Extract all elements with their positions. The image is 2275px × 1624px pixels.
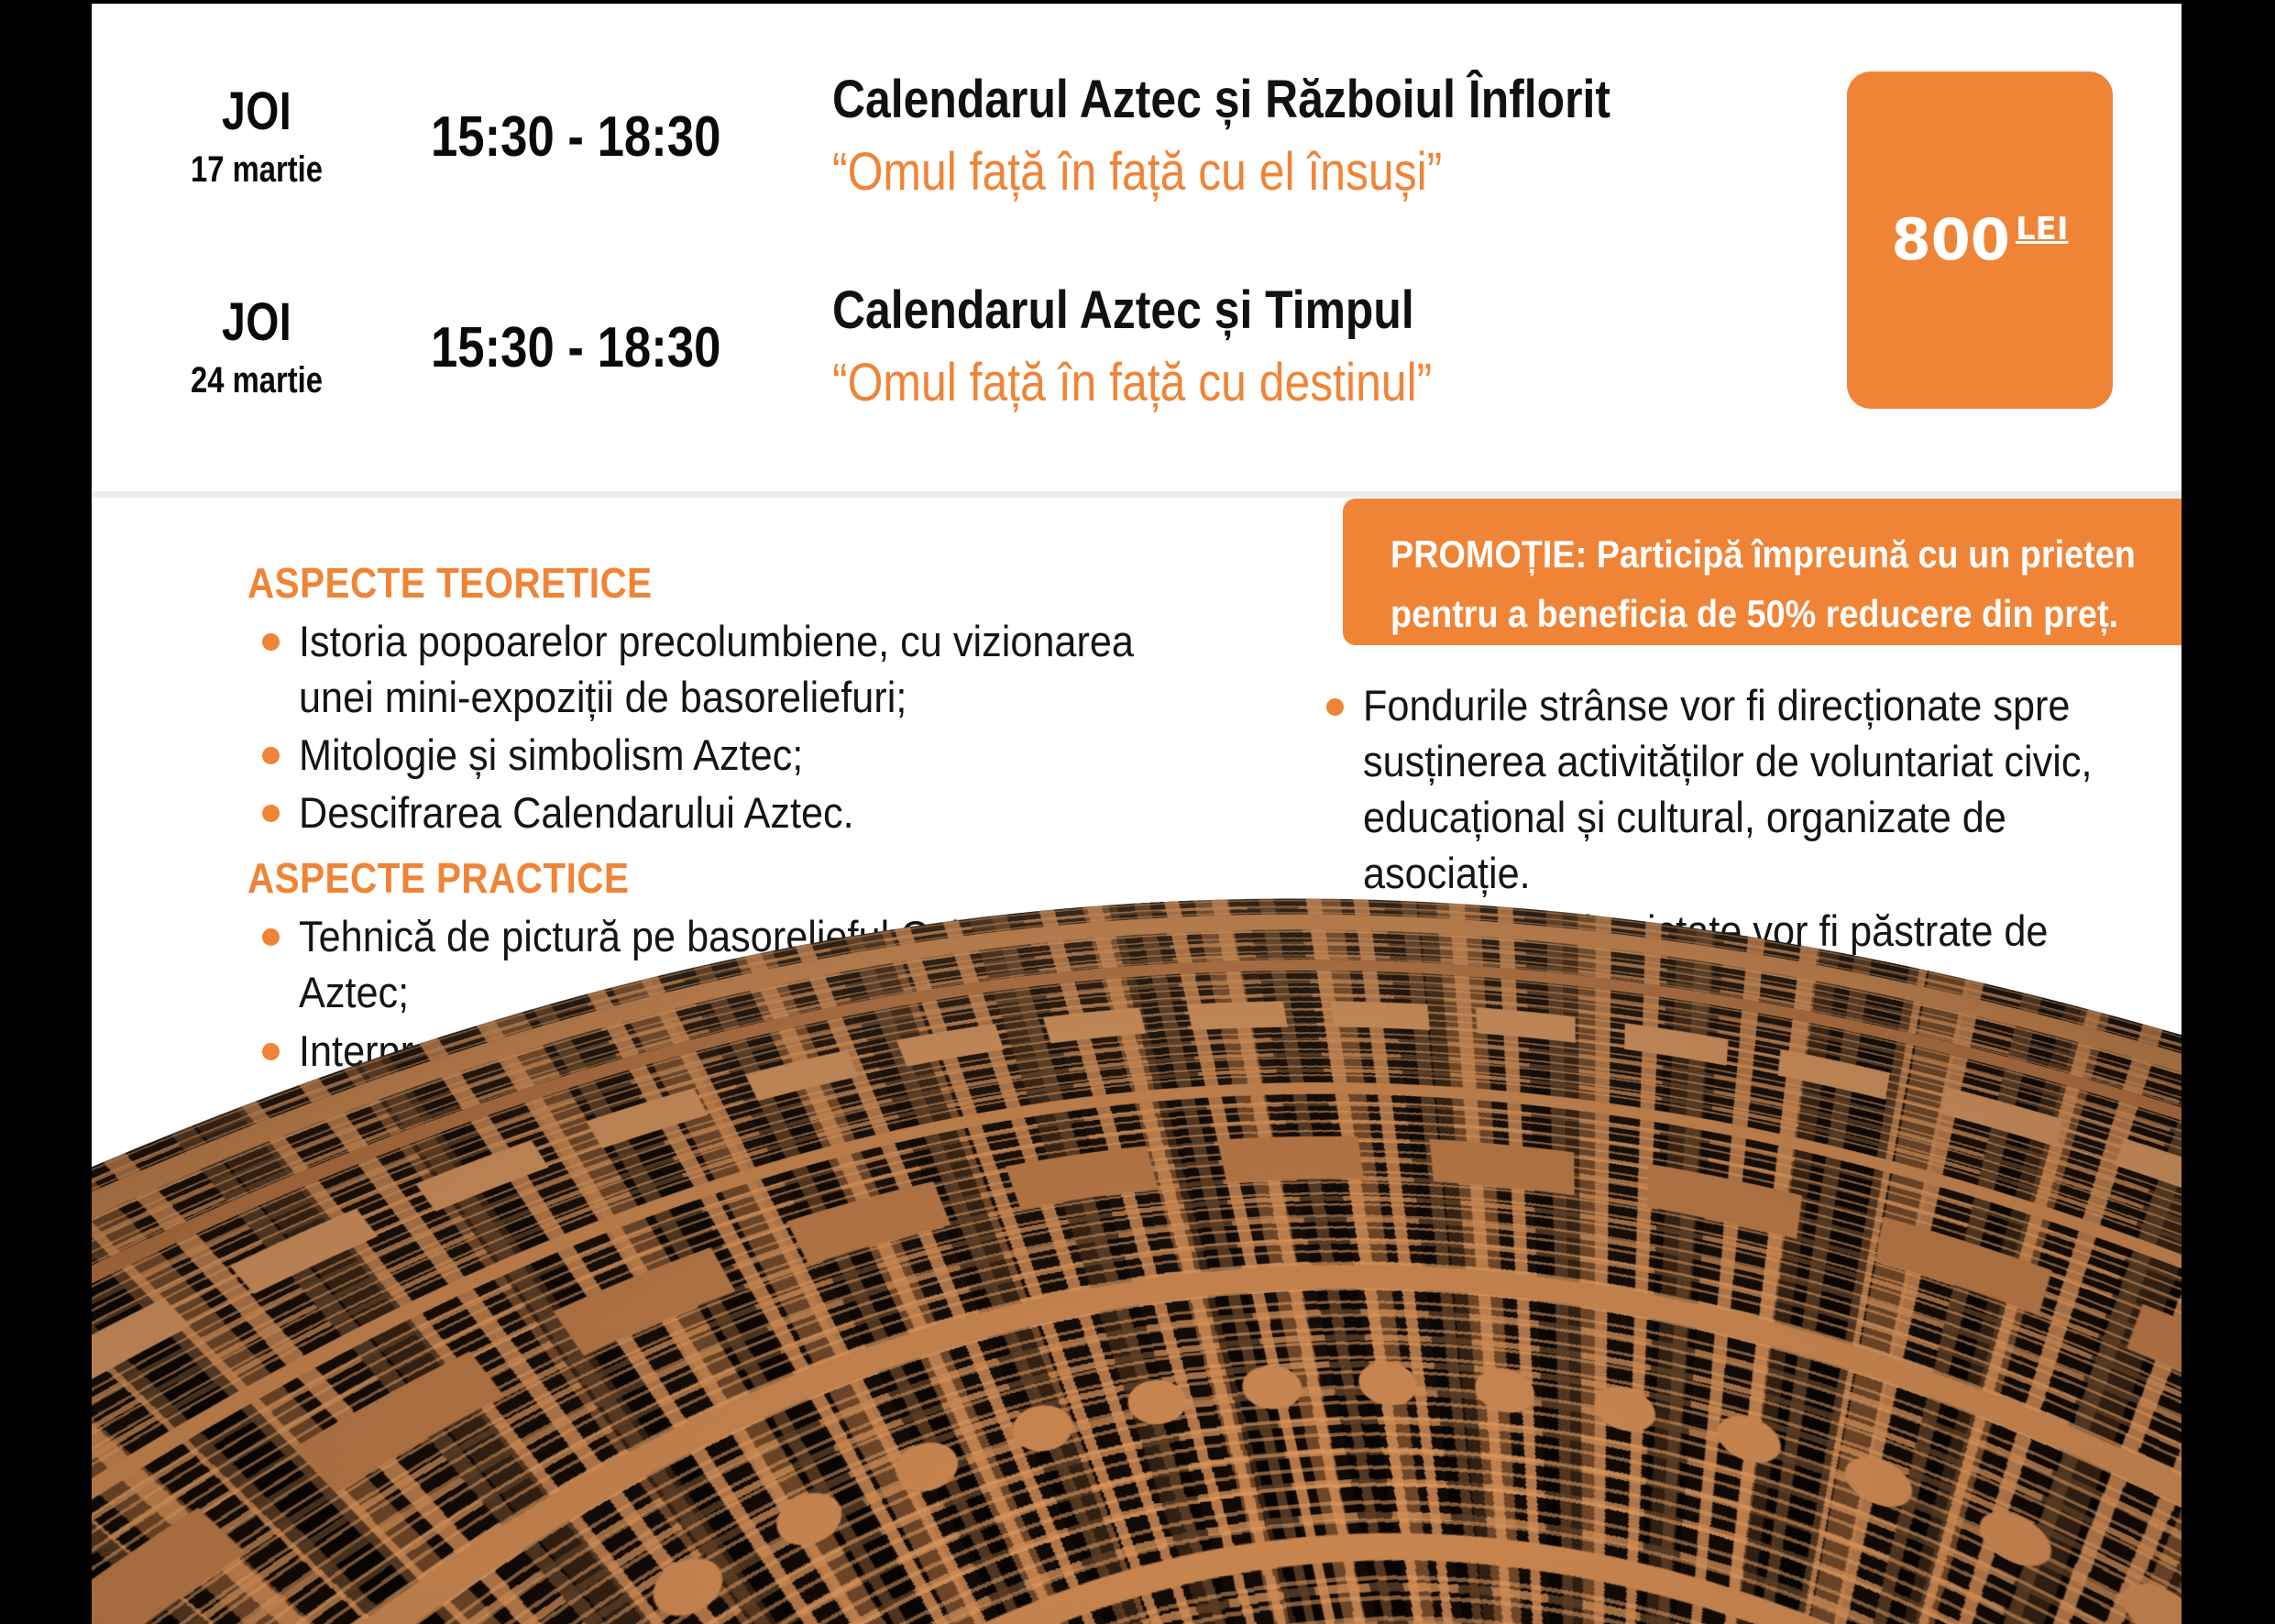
section-heading-theoretical-text: ASPECTE TEORETICE xyxy=(247,558,653,608)
list-item-text: Basoreliefurile pictate vor fi păstrate … xyxy=(1363,903,2116,1015)
time-label: 15:30 - 18:30 xyxy=(431,104,720,170)
list-item-text: Tehnică de pictură pe basorelieful Calen… xyxy=(299,908,1146,1020)
list-item: Calculul zilei de naștere conform Calend… xyxy=(247,1081,1219,1192)
price-badge-inner: 800LEI xyxy=(1892,212,2069,269)
date-cell: JOI 17 martie xyxy=(92,85,422,188)
event-subtitle-text: “Omul față în față cu el însuși” xyxy=(832,142,1442,203)
date-cell: JOI 24 martie xyxy=(92,296,422,399)
list-item: Tehnică de pictură pe basorelieful Calen… xyxy=(247,908,1219,1020)
list-item: Basoreliefurile pictate vor fi păstrate … xyxy=(1315,903,2182,1015)
list-item-text: Fondurile strânse vor fi direcționate sp… xyxy=(1363,677,2116,901)
list-item: Istoria popoarelor precolumbiene, cu viz… xyxy=(247,613,1219,725)
date-date-label: 17 martie xyxy=(121,151,391,188)
time-cell: 15:30 - 18:30 xyxy=(422,315,816,380)
list-item: Mitologie și simbolism Aztec; xyxy=(247,727,1219,783)
list-item-text: Istoria popoarelor precolumbiene, cu viz… xyxy=(299,613,1146,725)
notes-list: Fondurile strânse vor fi direcționate sp… xyxy=(1315,677,2182,1015)
bullet-dot-icon xyxy=(1326,698,1344,716)
date-day-label: JOI xyxy=(125,85,389,138)
poster-root: JOI 17 martie 15:30 - 18:30 Calendarul A… xyxy=(0,0,2275,1624)
promo-banner: PROMOȚIE: Participă împreună cu un priet… xyxy=(1343,499,2182,645)
section-heading-practical: ASPECTE PRACTICE xyxy=(247,853,1219,903)
event-subtitle-text: “Omul față în față cu destinul” xyxy=(832,353,1432,414)
content-sheet: JOI 17 martie 15:30 - 18:30 Calendarul A… xyxy=(92,4,2182,1624)
horizontal-divider xyxy=(92,491,2182,498)
bullet-dot-icon xyxy=(262,633,280,651)
theoretical-list: Istoria popoarelor precolumbiene, cu viz… xyxy=(247,613,1219,840)
time-label: 15:30 - 18:30 xyxy=(431,315,720,380)
event-title-text: Calendarul Aztec și Timpul xyxy=(832,281,1414,340)
event-title-text: Calendarul Aztec și Războiul Înflorit xyxy=(832,71,1610,129)
promo-line-2-text: pentru a beneficia de 50% reducere din p… xyxy=(1390,584,2118,643)
practical-list: Tehnică de pictură pe basorelieful Calen… xyxy=(247,908,1219,1191)
section-heading-practical-text: ASPECTE PRACTICE xyxy=(247,853,629,903)
price-amount: 800 xyxy=(1892,206,2010,273)
left-column: ASPECTE TEORETICE Istoria popoarelor pre… xyxy=(247,558,1219,1205)
promo-line-2: pentru a beneficia de 50% reducere din p… xyxy=(1390,584,2173,643)
list-item-text: Mitologie și simbolism Aztec; xyxy=(299,727,1146,783)
right-notes: Fondurile strânse vor fi direcționate sp… xyxy=(1315,677,2182,1028)
list-item-text: Descifrarea Calendarului Aztec. xyxy=(299,785,1146,840)
list-item: Descifrarea Calendarului Aztec. xyxy=(247,785,1219,840)
bullet-dot-icon xyxy=(262,1043,280,1060)
bullet-dot-icon xyxy=(262,747,280,764)
promo-line-1-text: PROMOȚIE: Participă împreună cu un priet… xyxy=(1390,524,2136,584)
price-currency: LEI xyxy=(2016,211,2069,247)
list-item-text: Interpretarea Calendarului Aztec; xyxy=(299,1023,1146,1079)
time-cell: 15:30 - 18:30 xyxy=(422,104,816,170)
promo-line-1: PROMOȚIE: Participă împreună cu un priet… xyxy=(1390,524,2173,584)
date-day-label: JOI xyxy=(125,296,389,349)
section-heading-theoretical: ASPECTE TEORETICE xyxy=(247,558,1219,608)
schedule-block: JOI 17 martie 15:30 - 18:30 Calendarul A… xyxy=(92,4,2182,488)
bullet-dot-icon xyxy=(262,805,280,822)
list-item: Fondurile strânse vor fi direcționate sp… xyxy=(1315,677,2182,901)
list-item: Interpretarea Calendarului Aztec; xyxy=(247,1023,1219,1079)
list-item-text: Calculul zilei de naștere conform Calend… xyxy=(299,1081,1146,1192)
bullet-dot-icon xyxy=(262,928,280,946)
price-badge: 800LEI xyxy=(1847,71,2113,409)
bullet-dot-icon xyxy=(1326,924,1344,941)
bullet-dot-icon xyxy=(262,1101,280,1118)
date-date-label: 24 martie xyxy=(121,362,391,399)
